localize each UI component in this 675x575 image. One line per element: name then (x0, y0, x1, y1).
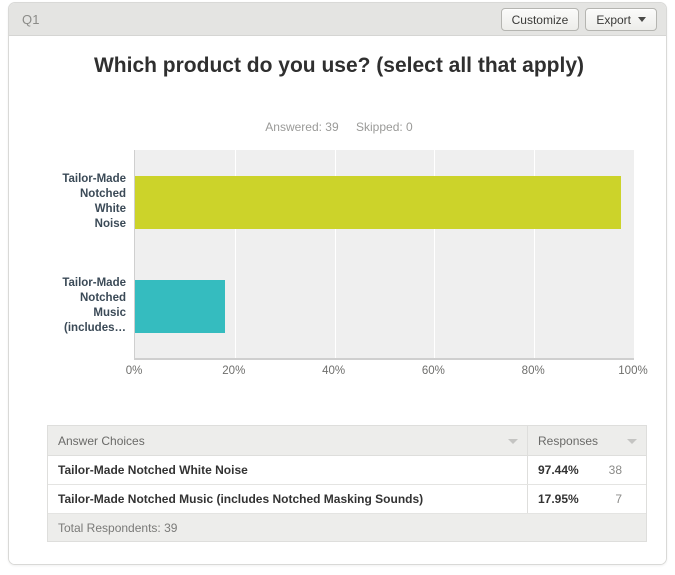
question-number-label: Q1 (22, 12, 40, 27)
table-header-answer-choices[interactable]: Answer Choices (48, 426, 527, 455)
card-body: Which product do you use? (select all th… (9, 37, 666, 564)
card-header: Q1 Customize Export (9, 3, 666, 36)
x-tick-60: 60% (422, 365, 445, 377)
cell-answer-choice: Tailor-Made Notched Music (includes Notc… (48, 485, 527, 513)
x-tick-0: 0% (126, 365, 143, 377)
category-label-1: Tailor-MadeNotchedMusic(includes… (9, 276, 126, 336)
response-percent: 17.95% (538, 492, 579, 506)
cell-responses: 97.44%38 (527, 456, 646, 484)
table-header-row: Answer Choices Responses (48, 426, 646, 456)
table-body: Tailor-Made Notched White Noise97.44%38T… (48, 456, 646, 514)
x-tick-80: 80% (522, 365, 545, 377)
bar-1[interactable] (135, 280, 225, 333)
table-header-answer-choices-label: Answer Choices (58, 434, 145, 448)
total-respondents-row: Total Respondents: 39 (48, 514, 646, 541)
plot-area (134, 150, 634, 358)
bar-chart: Tailor-MadeNotchedWhiteNoiseTailor-MadeN… (9, 37, 666, 377)
table-header-responses-label: Responses (538, 434, 598, 448)
x-tick-100: 100% (618, 365, 647, 377)
response-percent: 97.44% (538, 463, 579, 477)
chevron-down-icon (638, 17, 646, 22)
cell-answer-choice: Tailor-Made Notched White Noise (48, 456, 527, 484)
bar-0[interactable] (135, 176, 621, 229)
gridline (634, 150, 635, 358)
response-count: 38 (609, 463, 636, 477)
table-row: Tailor-Made Notched White Noise97.44%38 (48, 456, 646, 485)
category-label-0: Tailor-MadeNotchedWhiteNoise (9, 172, 126, 232)
sort-descending-icon[interactable] (627, 439, 637, 444)
sort-descending-icon[interactable] (508, 439, 518, 444)
x-tick-20: 20% (222, 365, 245, 377)
export-button[interactable]: Export (585, 8, 657, 31)
x-tick-40: 40% (322, 365, 345, 377)
responses-table: Answer Choices Responses Tailor-Made Not… (47, 425, 647, 542)
x-axis-baseline (134, 358, 634, 360)
header-button-group: Customize Export (501, 8, 657, 31)
customize-button[interactable]: Customize (501, 8, 580, 31)
table-row: Tailor-Made Notched Music (includes Notc… (48, 485, 646, 514)
customize-button-label: Customize (512, 13, 569, 27)
table-header-responses[interactable]: Responses (527, 426, 646, 455)
cell-responses: 17.95%7 (527, 485, 646, 513)
survey-question-card: Q1 Customize Export Which product do you… (8, 2, 667, 565)
export-button-label: Export (596, 13, 631, 27)
response-count: 7 (615, 492, 636, 506)
